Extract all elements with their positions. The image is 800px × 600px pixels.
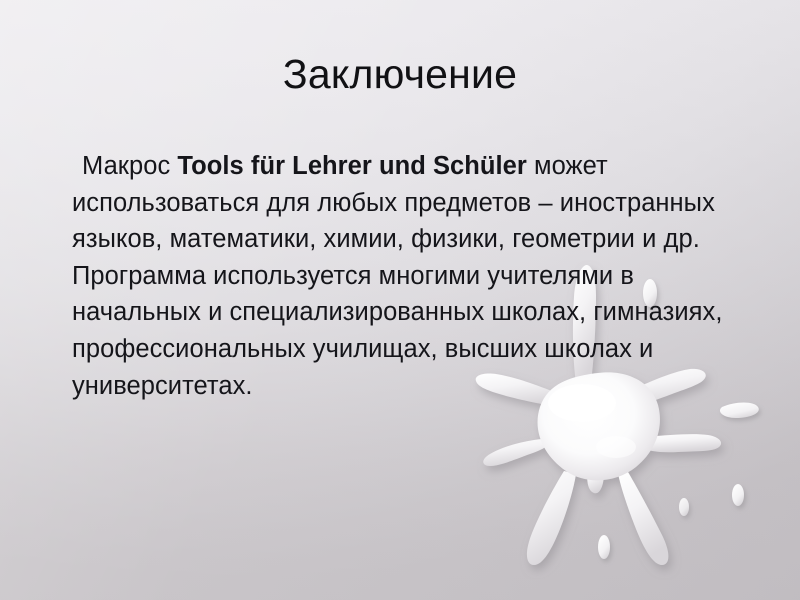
presentation-slide: Заключение Макрос Tools für Lehrer und S… bbox=[0, 0, 800, 600]
body-lead-plain: Макрос bbox=[82, 152, 177, 180]
page-title: Заключение bbox=[0, 49, 800, 99]
body-rest-text: может использоваться для любых предметов… bbox=[72, 152, 722, 400]
body-product-name-bold: Tools für Lehrer und Schüler bbox=[177, 152, 526, 180]
slide-body-text: Макрос Tools für Lehrer und Schüler може… bbox=[72, 148, 732, 404]
